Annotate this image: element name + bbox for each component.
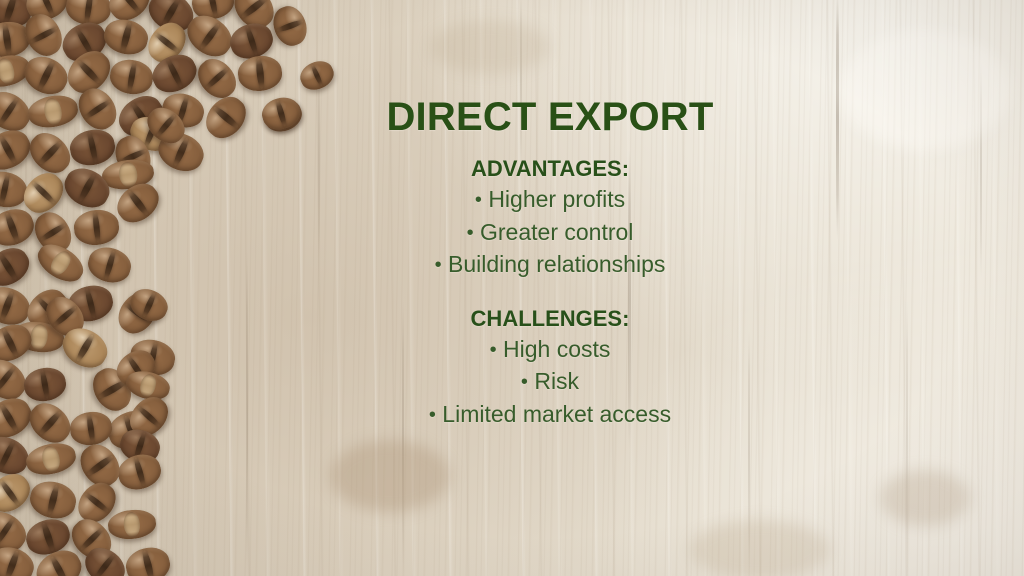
coffee-bean: [107, 57, 155, 98]
coffee-bean: [114, 450, 165, 495]
coffee-bean: [68, 409, 114, 448]
coffee-bean: [22, 396, 77, 451]
coffee-bean: [84, 243, 135, 288]
bullet-item: • Greater control: [330, 216, 770, 249]
bullet-item: • High costs: [330, 333, 770, 366]
bullet-text: Higher profits: [488, 186, 625, 212]
bullet-dot-icon: •: [521, 371, 528, 393]
coffee-bean: [26, 477, 79, 523]
coffee-bean: [107, 508, 158, 542]
bullet-text: High costs: [503, 336, 610, 362]
coffee-bean: [296, 56, 338, 94]
slide-text-block: DIRECT EXPORT ADVANTAGES: • Higher profi…: [330, 96, 770, 431]
coffee-bean: [268, 2, 312, 51]
section-spacer: [330, 281, 770, 305]
presentation-slide: DIRECT EXPORT ADVANTAGES: • Higher profi…: [0, 0, 1024, 576]
bullet-text: Greater control: [480, 219, 633, 245]
coffee-bean: [236, 54, 283, 93]
bullet-text: Building relationships: [448, 251, 665, 277]
coffee-bean: [198, 89, 253, 145]
slide-title: DIRECT EXPORT: [330, 96, 770, 139]
coffee-bean: [19, 50, 74, 101]
bullet-dot-icon: •: [435, 254, 442, 276]
coffee-bean: [72, 208, 120, 248]
coffee-bean-decoration: [0, 0, 360, 576]
bullet-item: • Risk: [330, 365, 770, 398]
coffee-bean: [258, 93, 303, 133]
coffee-bean: [0, 241, 36, 293]
coffee-bean: [26, 92, 81, 131]
bullet-dot-icon: •: [429, 404, 436, 426]
section-heading-advantages: ADVANTAGES:: [330, 155, 770, 183]
bullet-dot-icon: •: [467, 221, 474, 243]
bullet-dot-icon: •: [475, 189, 482, 211]
bullet-text: Risk: [534, 368, 579, 394]
bullet-item: • Higher profits: [330, 183, 770, 216]
bullet-text: Limited market access: [442, 401, 671, 427]
coffee-bean: [67, 126, 118, 170]
coffee-bean: [122, 543, 173, 576]
coffee-bean: [23, 439, 78, 479]
bullet-dot-icon: •: [490, 338, 497, 360]
coffee-bean: [101, 15, 152, 59]
section-heading-challenges: CHALLENGES:: [330, 305, 770, 333]
coffee-bean: [21, 365, 68, 405]
bullet-item: • Limited market access: [330, 398, 770, 431]
bullet-item: • Building relationships: [330, 248, 770, 281]
